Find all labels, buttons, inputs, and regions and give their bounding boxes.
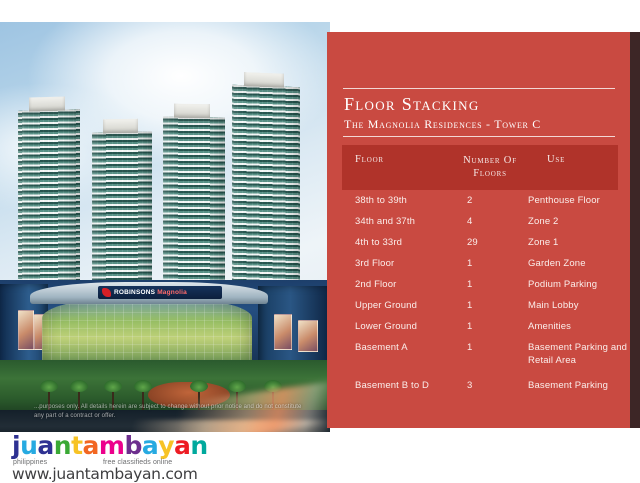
billboard-poster (298, 320, 318, 352)
site-watermark: juantambayan philippines free classified… (0, 432, 330, 480)
logo-letter: a (83, 432, 99, 459)
mall-glass-facade (42, 296, 252, 366)
table-row: 4th to 33rd 29 Zone 1 (342, 237, 622, 258)
billboard-poster (18, 310, 34, 350)
cell-floor: 4th to 33rd (355, 237, 451, 248)
table-row: 34th and 37th 4 Zone 2 (342, 216, 622, 237)
cell-number-of-floors: 1 (467, 300, 491, 311)
column-header-number-of-floors: Number of Floors (447, 154, 533, 180)
title-bottom-divider (343, 136, 615, 137)
cell-floor: 2nd Floor (355, 279, 451, 290)
panel-title-block: Floor Stacking The Magnolia Residences -… (344, 94, 620, 132)
table-row: Upper Ground 1 Main Lobby (342, 300, 622, 321)
cell-use: Main Lobby (528, 300, 628, 313)
cell-number-of-floors: 1 (467, 258, 491, 269)
mall-sign-text: ROBINSONS Magnolia (114, 289, 187, 296)
logo-letter: a (174, 432, 190, 459)
cell-use: Garden Zone (528, 258, 628, 271)
table-row: Lower Ground 1 Amenities (342, 321, 622, 342)
table-row: 2nd Floor 1 Podium Parking (342, 279, 622, 300)
cell-use: Penthouse Floor (528, 195, 628, 208)
cell-use: Zone 2 (528, 216, 628, 229)
logo-letter: j (12, 432, 20, 459)
cell-number-of-floors: 1 (467, 321, 491, 332)
tower-crown (29, 97, 65, 112)
cell-use: Amenities (528, 321, 628, 334)
disclaimer-text: ...purposes only. All details herein are… (34, 403, 304, 420)
title-top-divider (343, 88, 615, 89)
floor-stacking-panel: Floor Stacking The Magnolia Residences -… (327, 32, 630, 428)
column-header-floor: Floor (355, 154, 384, 165)
property-render-image: ROBINSONS Magnolia ...purposes only. All… (0, 22, 330, 440)
juantambayan-logo: juantambayan (12, 432, 208, 459)
logo-letter: u (20, 432, 37, 459)
cell-number-of-floors: 29 (467, 237, 491, 248)
mall-sign-name: Magnolia (157, 289, 187, 296)
logo-letter: y (158, 432, 174, 459)
logo-letter: t (71, 432, 82, 459)
table-row: 38th to 39th 2 Penthouse Floor (342, 195, 622, 216)
cell-number-of-floors: 1 (467, 342, 491, 353)
cell-use: Basement Parking (528, 380, 628, 393)
table-row: 3rd Floor 1 Garden Zone (342, 258, 622, 279)
cell-number-of-floors: 3 (467, 380, 491, 391)
robinsons-magnolia-signage: ROBINSONS Magnolia (98, 286, 222, 299)
cell-floor: Basement A (355, 342, 451, 353)
site-url: www.juantambayan.com (12, 465, 198, 483)
page-title: Floor Stacking (344, 94, 620, 115)
cell-use: Podium Parking (528, 279, 628, 292)
tower-crown (103, 119, 138, 134)
logo-letter: m (99, 432, 125, 459)
panel-right-edge-strip (630, 32, 640, 428)
table-header-row: Floor Number of Floors Use (342, 145, 618, 190)
cell-floor: 3rd Floor (355, 258, 451, 269)
table-row: Basement B to D 3 Basement Parking (342, 380, 622, 401)
logo-letter: n (190, 432, 207, 459)
logo-letter: b (124, 432, 141, 459)
cell-use: Zone 1 (528, 237, 628, 250)
cell-floor: 34th and 37th (355, 216, 451, 227)
logo-letter: a (142, 432, 158, 459)
tower-crown (174, 104, 210, 119)
logo-letter: n (54, 432, 71, 459)
cell-floor: Lower Ground (355, 321, 451, 332)
cell-floor: Upper Ground (355, 300, 451, 311)
cell-number-of-floors: 2 (467, 195, 491, 206)
cell-number-of-floors: 4 (467, 216, 491, 227)
floor-stacking-table: 38th to 39th 2 Penthouse Floor 34th and … (342, 195, 622, 401)
logo-letter: a (37, 432, 53, 459)
column-header-use: Use (547, 154, 565, 165)
cell-use: Basement Parking and Retail Area (528, 342, 628, 367)
cell-floor: Basement B to D (355, 380, 451, 391)
cell-floor: 38th to 39th (355, 195, 451, 206)
billboard-poster (274, 314, 292, 350)
robinsons-logo-icon (102, 288, 111, 297)
cell-number-of-floors: 1 (467, 279, 491, 290)
tower-crown (244, 72, 283, 88)
mall-sign-brand: ROBINSONS (114, 289, 155, 296)
table-row: Basement A 1 Basement Parking and Retail… (342, 342, 622, 373)
page-subtitle: The Magnolia Residences - Tower C (344, 117, 620, 132)
